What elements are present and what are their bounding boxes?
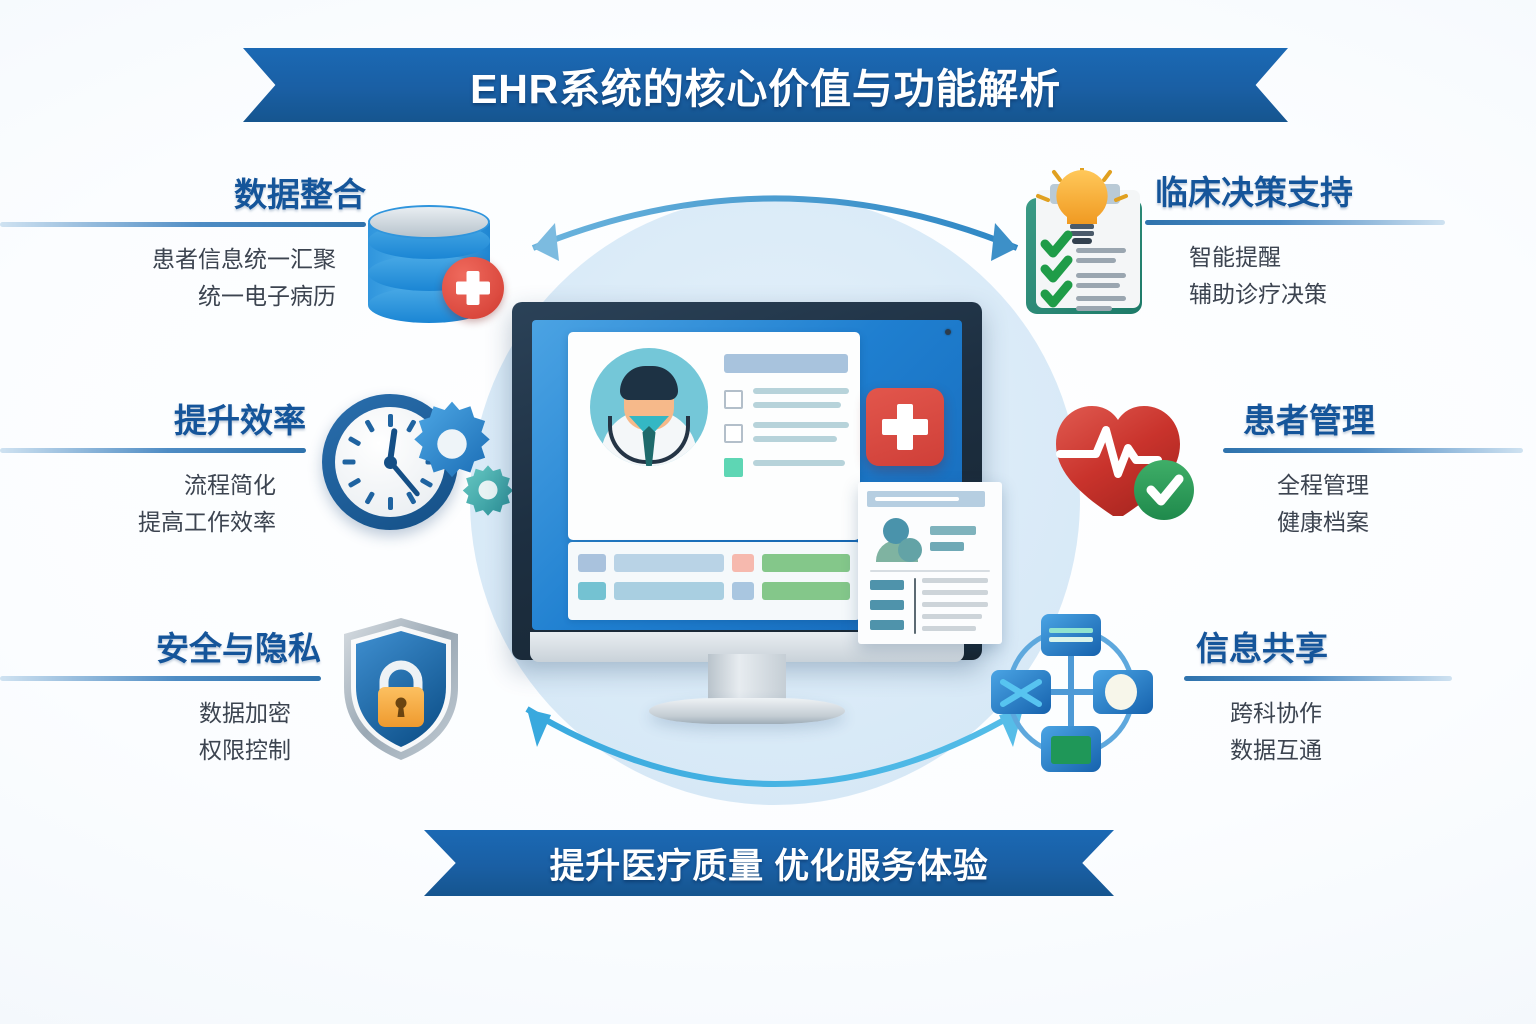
heading-rule (1145, 220, 1445, 225)
checkbox-row-3[interactable] (724, 458, 743, 477)
network-share-icon (985, 606, 1157, 778)
page-title: EHR系统的核心价值与功能解析 (470, 55, 1061, 115)
feature-line-1: 智能提醒 (1189, 239, 1536, 276)
feature-line-2: 权限控制 (0, 732, 291, 769)
feature-block-efficiency: 提升效率 流程简化 提高工作效率 (0, 404, 310, 541)
checkbox-row-2[interactable] (724, 424, 743, 443)
database-icon (368, 205, 490, 323)
patient-record-card (858, 482, 1002, 644)
feature-block-clinical-decision-support: 临床决策支持 智能提醒 辅助诊疗决策 (1155, 176, 1536, 313)
feature-line-2: 健康档案 (1277, 504, 1536, 541)
feature-line-1: 患者信息统一汇聚 (0, 241, 336, 278)
feature-block-data-integration: 数据整合 患者信息统一汇聚 统一电子病历 (0, 178, 370, 315)
feature-block-information-sharing: 信息共享 跨科协作 数据互通 (1196, 632, 1536, 769)
checkbox-row-1[interactable] (724, 390, 743, 409)
feature-line-1: 跨科协作 (1230, 695, 1536, 732)
feature-heading: 患者管理 (1243, 404, 1536, 439)
infographic-canvas: EHR系统的核心价值与功能解析 数据整合 患者信息统一汇聚 (0, 0, 1536, 1024)
feature-heading: 信息共享 (1196, 632, 1536, 667)
dashboard-table (568, 542, 860, 620)
gear-small-icon (460, 462, 516, 518)
field-title-bar (724, 354, 848, 373)
feature-line-1: 流程简化 (0, 467, 276, 504)
feature-heading: 数据整合 (0, 178, 370, 213)
tagline-ribbon: 提升医疗质量 优化服务体验 (424, 830, 1114, 896)
feature-heading: 安全与隐私 (0, 632, 325, 667)
medical-cross-icon (442, 257, 504, 319)
medical-cross-badge (866, 388, 944, 466)
webcam-dot-icon (945, 329, 951, 335)
shield-lock-icon (338, 615, 464, 763)
feature-block-security-privacy: 安全与隐私 数据加密 权限控制 (0, 632, 325, 769)
heading-rule (0, 448, 306, 453)
heading-rule (0, 222, 366, 227)
feature-line-2: 辅助诊疗决策 (1189, 276, 1536, 313)
heading-rule (1223, 448, 1523, 453)
feature-line-1: 全程管理 (1277, 467, 1536, 504)
feature-heading: 临床决策支持 (1155, 176, 1536, 211)
tagline: 提升医疗质量 优化服务体验 (550, 838, 989, 889)
feature-line-2: 统一电子病历 (0, 278, 336, 315)
heading-rule (1184, 676, 1452, 681)
feature-line-2: 提高工作效率 (0, 504, 276, 541)
heart-check-icon (1050, 392, 1200, 532)
feature-line-2: 数据互通 (1230, 732, 1536, 769)
clipboard-bulb-icon (1020, 168, 1156, 318)
feature-block-patient-management: 患者管理 全程管理 健康档案 (1243, 404, 1536, 541)
title-ribbon: EHR系统的核心价值与功能解析 (243, 48, 1288, 122)
doctor-avatar (590, 348, 708, 466)
dashboard-card (568, 332, 860, 540)
heading-rule (0, 676, 321, 681)
feature-heading: 提升效率 (0, 404, 310, 439)
feature-line-1: 数据加密 (0, 695, 291, 732)
